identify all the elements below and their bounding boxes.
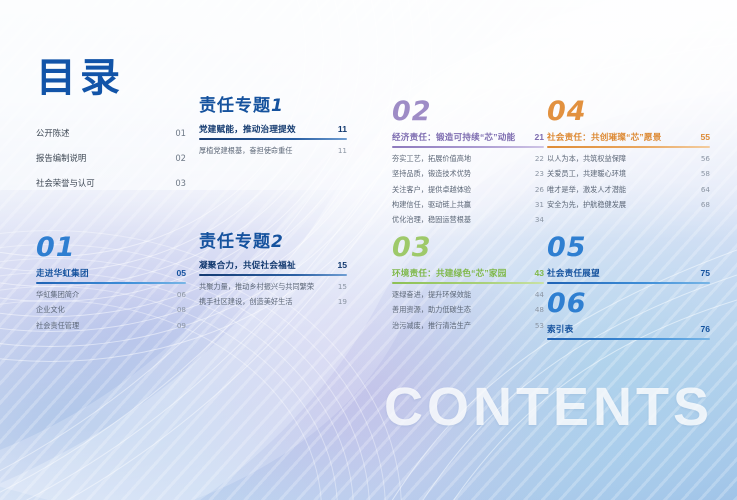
sub-item-page: 11 xyxy=(338,147,347,156)
sub-item-page: 09 xyxy=(177,322,186,331)
sub-item[interactable]: 携手社区建设，创造美好生活 19 xyxy=(199,298,347,307)
sub-item-page: 68 xyxy=(701,201,710,210)
sub-item[interactable]: 善用资源，助力低碳生态 48 xyxy=(392,306,544,315)
list-item[interactable]: 公开陈述 01 xyxy=(36,128,186,138)
sub-item-label: 社会责任管理 xyxy=(36,322,79,331)
sub-item-page: 08 xyxy=(177,306,186,315)
section-page: 76 xyxy=(700,324,710,334)
topic-page: 11 xyxy=(338,124,347,134)
sub-item-label: 构建信任，驱动链上共赢 xyxy=(392,201,471,210)
sub-item-page: 34 xyxy=(535,216,544,225)
list-item[interactable]: 社会荣誉与认可 03 xyxy=(36,178,186,188)
topic-page: 15 xyxy=(337,260,347,270)
section-06: 06 索引表 76 xyxy=(547,290,710,347)
sub-item-page: 15 xyxy=(338,283,347,292)
sub-item-label: 携手社区建设，创造美好生活 xyxy=(199,298,292,307)
sub-item[interactable]: 安全为先，护航稳健发展 68 xyxy=(547,201,710,210)
section-divider xyxy=(392,146,544,148)
sub-item-label: 坚持品质，锻造技术优势 xyxy=(392,170,471,179)
list-item-page: 02 xyxy=(175,153,186,163)
section-divider xyxy=(392,282,544,284)
list-item-label: 报告编制说明 xyxy=(36,153,86,163)
sub-item-page: 31 xyxy=(535,201,544,210)
topic-divider xyxy=(199,138,347,140)
sub-item-label: 华虹集团简介 xyxy=(36,291,79,300)
sub-item[interactable]: 夯实工艺，拓展价值高地 22 xyxy=(392,155,544,164)
sub-item-label: 治污减废，推行清洁生产 xyxy=(392,322,471,331)
sub-item-page: 58 xyxy=(701,170,710,179)
sub-item[interactable]: 共聚力量，推动乡村振兴与共同繁荣 15 xyxy=(199,283,347,292)
section-title: 索引表 xyxy=(547,324,573,334)
section-title: 经济责任：锻造可持续“芯”动能 xyxy=(392,132,515,142)
list-item-page: 03 xyxy=(175,178,186,188)
sub-item[interactable]: 关注客户，提供卓越体验 26 xyxy=(392,186,544,195)
section-02: 02 经济责任：锻造可持续“芯”动能 21 夯实工艺，拓展价值高地 22 坚持品… xyxy=(392,98,544,231)
sub-item[interactable]: 构建信任，驱动链上共赢 31 xyxy=(392,201,544,210)
sub-item[interactable]: 坚持品质，锻造技术优势 23 xyxy=(392,170,544,179)
sub-item[interactable]: 华虹集团简介 06 xyxy=(36,291,186,300)
sub-item[interactable]: 唯才是举，激发人才潜能 64 xyxy=(547,186,710,195)
sub-item[interactable]: 厚植党建根基，奋担使命重任 11 xyxy=(199,147,347,156)
list-item-page: 01 xyxy=(175,128,186,138)
sub-item-page: 26 xyxy=(535,186,544,195)
topic-title: 凝聚合力，共促社会福祉 xyxy=(199,260,296,270)
section-page: 55 xyxy=(700,132,710,142)
topic-kicker: 责任专题1 xyxy=(199,98,347,115)
section-title: 社会责任展望 xyxy=(547,268,600,278)
section-number: 06 xyxy=(547,290,710,317)
section-divider xyxy=(547,338,710,340)
sub-item-label: 夯实工艺，拓展价值高地 xyxy=(392,155,471,164)
section-04: 04 社会责任：共创璀璨“芯”愿景 55 以人为本，共筑权益保障 56 关爱员工… xyxy=(547,98,710,216)
sub-item-page: 06 xyxy=(177,291,186,300)
section-number: 05 xyxy=(547,234,710,261)
sub-item-label: 关注客户，提供卓越体验 xyxy=(392,186,471,195)
contents-page: 目录 CONTENTS 公开陈述 01 报告编制说明 02 社会荣誉与认可 03 xyxy=(0,0,737,500)
topic-kicker-label: 责任专题 xyxy=(199,232,271,252)
sub-item[interactable]: 社会责任管理 09 xyxy=(36,322,186,331)
section-number: 04 xyxy=(547,98,710,125)
topic-kicker: 责任专题2 xyxy=(199,234,347,251)
topic-title: 党建赋能，推动治理提效 xyxy=(199,124,296,134)
list-item-label: 社会荣誉与认可 xyxy=(36,178,95,188)
section-header[interactable]: 经济责任：锻造可持续“芯”动能 21 xyxy=(392,132,544,142)
section-title: 环境责任：共建绿色“芯”家园 xyxy=(392,268,507,278)
topic-divider xyxy=(199,274,347,276)
section-divider xyxy=(36,282,186,284)
sub-item-page: 64 xyxy=(701,186,710,195)
list-item-label: 公开陈述 xyxy=(36,128,70,138)
section-01: 01 走进华虹集团 05 华虹集团简介 06 企业文化 08 社会责任管理 09 xyxy=(36,234,186,337)
sub-item-page: 19 xyxy=(338,298,347,307)
section-page: 43 xyxy=(534,268,544,278)
topic-kicker-number: 1 xyxy=(271,96,284,116)
sub-item[interactable]: 企业文化 08 xyxy=(36,306,186,315)
contents-watermark: CONTENTS xyxy=(384,376,713,438)
section-header[interactable]: 索引表 76 xyxy=(547,324,710,334)
sub-item-page: 56 xyxy=(701,155,710,164)
sub-item-label: 共聚力量，推动乡村振兴与共同繁荣 xyxy=(199,283,314,292)
topic-kicker-number: 2 xyxy=(271,232,284,252)
section-divider xyxy=(547,146,710,148)
topic-header[interactable]: 党建赋能，推动治理提效 11 xyxy=(199,124,347,134)
sub-item[interactable]: 优化治理，稳固运营根基 34 xyxy=(392,216,544,225)
sub-item-page: 23 xyxy=(535,170,544,179)
sub-item-label: 优化治理，稳固运营根基 xyxy=(392,216,471,225)
sub-item-label: 厚植党建根基，奋担使命重任 xyxy=(199,147,292,156)
topic-header[interactable]: 凝聚合力，共促社会福祉 15 xyxy=(199,260,347,270)
sub-item-label: 善用资源，助力低碳生态 xyxy=(392,306,471,315)
sub-item-label: 关爱员工，共建暖心环境 xyxy=(547,170,626,179)
front-matter-list: 公开陈述 01 报告编制说明 02 社会荣誉与认可 03 xyxy=(36,128,186,203)
section-title: 社会责任：共创璀璨“芯”愿景 xyxy=(547,132,662,142)
section-page: 21 xyxy=(534,132,544,142)
section-page: 05 xyxy=(176,268,186,278)
section-title: 走进华虹集团 xyxy=(36,268,89,278)
sub-item-page: 44 xyxy=(535,291,544,300)
sub-item-label: 安全为先，护航稳健发展 xyxy=(547,201,626,210)
sub-item-label: 唯才是举，激发人才潜能 xyxy=(547,186,626,195)
page-title: 目录 xyxy=(36,45,124,103)
sub-item-label: 企业文化 xyxy=(36,306,65,315)
section-number: 02 xyxy=(392,98,544,125)
topic-2: 责任专题2 凝聚合力，共促社会福祉 15 共聚力量，推动乡村振兴与共同繁荣 15… xyxy=(199,234,347,314)
section-05: 05 社会责任展望 75 xyxy=(547,234,710,291)
sub-item-page: 48 xyxy=(535,306,544,315)
sub-item[interactable]: 以人为本，共筑权益保障 56 xyxy=(547,155,710,164)
sub-item[interactable]: 治污减废，推行清洁生产 53 xyxy=(392,322,544,331)
section-header[interactable]: 社会责任展望 75 xyxy=(547,268,710,278)
section-03: 03 环境责任：共建绿色“芯”家园 43 逐绿奋进，提升环保效能 44 善用资源… xyxy=(392,234,544,337)
sub-item-label: 逐绿奋进，提升环保效能 xyxy=(392,291,471,300)
section-number: 03 xyxy=(392,234,544,261)
sub-item-page: 22 xyxy=(535,155,544,164)
section-header[interactable]: 环境责任：共建绿色“芯”家园 43 xyxy=(392,268,544,278)
sub-item-label: 以人为本，共筑权益保障 xyxy=(547,155,626,164)
section-number: 01 xyxy=(36,234,186,261)
topic-kicker-label: 责任专题 xyxy=(199,96,271,116)
section-page: 75 xyxy=(700,268,710,278)
section-header[interactable]: 走进华虹集团 05 xyxy=(36,268,186,278)
topic-1: 责任专题1 党建赋能，推动治理提效 11 厚植党建根基，奋担使命重任 11 xyxy=(199,98,347,162)
sub-item-page: 53 xyxy=(535,322,544,331)
sub-item[interactable]: 逐绿奋进，提升环保效能 44 xyxy=(392,291,544,300)
sub-item[interactable]: 关爱员工，共建暖心环境 58 xyxy=(547,170,710,179)
section-divider xyxy=(547,282,710,284)
list-item[interactable]: 报告编制说明 02 xyxy=(36,153,186,163)
section-header[interactable]: 社会责任：共创璀璨“芯”愿景 55 xyxy=(547,132,710,142)
